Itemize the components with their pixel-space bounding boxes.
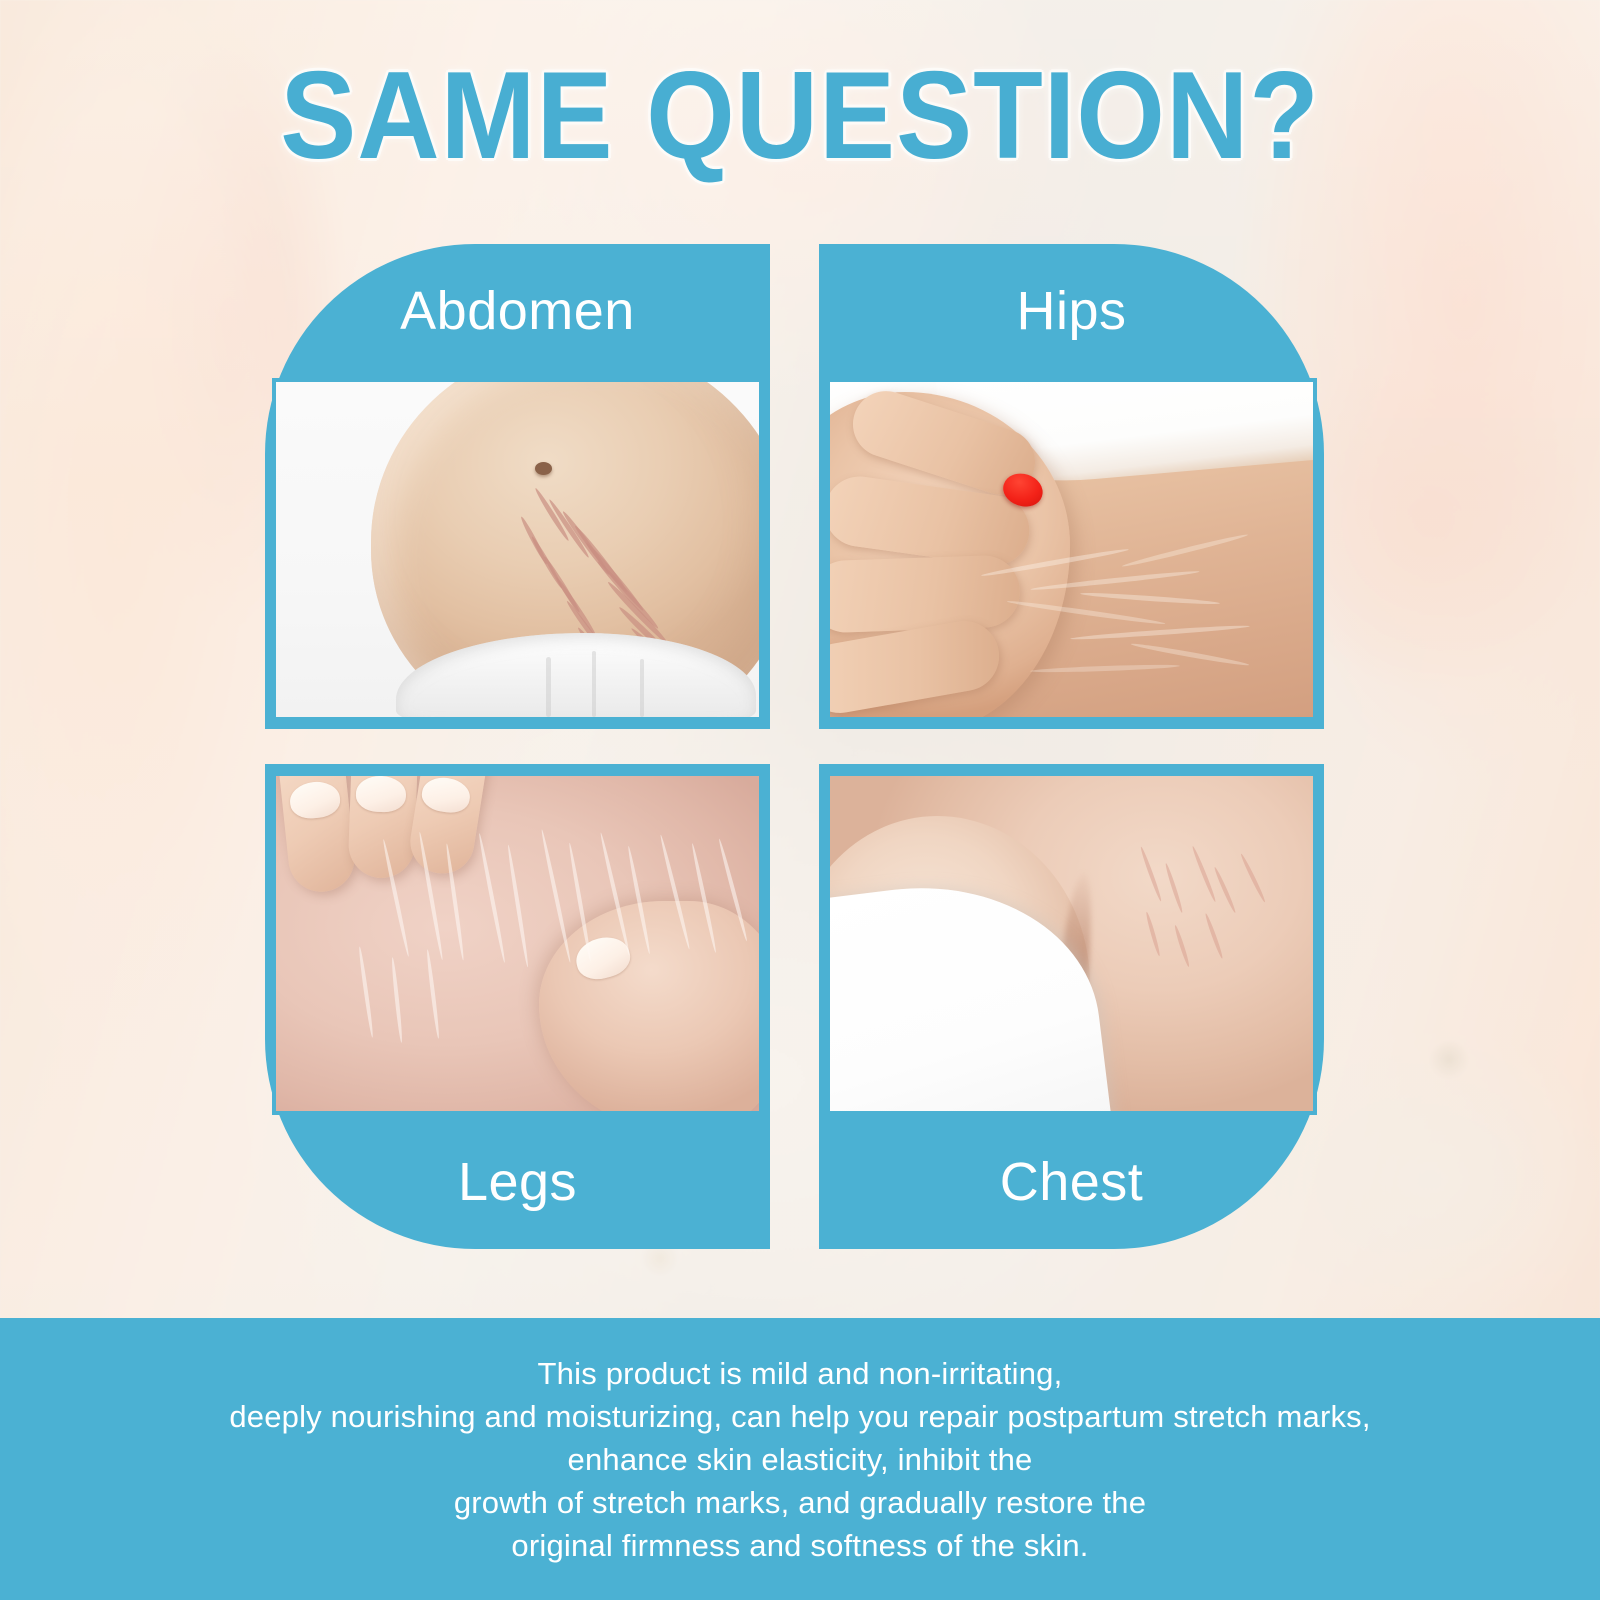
- panel-legs-label: Legs: [265, 1115, 770, 1249]
- footer-line-5: original firmness and softness of the sk…: [100, 1524, 1500, 1567]
- footer-bar: This product is mild and non-irritating,…: [0, 1318, 1600, 1600]
- panel-chest-label: Chest: [819, 1115, 1324, 1249]
- legs-photo: [276, 776, 759, 1111]
- panel-legs[interactable]: Legs: [265, 764, 770, 1249]
- panel-abdomen-label: Abdomen: [265, 244, 770, 378]
- hips-photo: [830, 382, 1313, 717]
- legs-hand-shape: [539, 901, 763, 1115]
- panel-hips[interactable]: Hips: [819, 244, 1324, 729]
- footer-line-3: enhance skin elasticity, inhibit the: [100, 1438, 1500, 1481]
- footer-line-4: growth of stretch marks, and gradually r…: [100, 1481, 1500, 1524]
- panel-legs-photo-frame: [272, 772, 763, 1115]
- title-container: SAME QUESTION?: [0, 54, 1600, 178]
- panel-abdomen-photo-frame: [272, 378, 763, 721]
- panel-chest-photo-frame: [826, 772, 1317, 1115]
- panel-chest[interactable]: Chest: [819, 764, 1324, 1249]
- panel-hips-photo-frame: [826, 378, 1317, 721]
- body-area-grid: Abdomen: [265, 244, 1331, 1254]
- abdomen-photo: [276, 382, 759, 717]
- footer-description: This product is mild and non-irritating,…: [100, 1352, 1500, 1567]
- chest-photo: [830, 776, 1313, 1111]
- panel-hips-label: Hips: [819, 244, 1324, 378]
- navel: [535, 462, 552, 475]
- page-title: SAME QUESTION?: [280, 54, 1320, 178]
- poster-root: SAME QUESTION? Abdomen: [0, 0, 1600, 1600]
- panel-abdomen[interactable]: Abdomen: [265, 244, 770, 729]
- footer-line-1: This product is mild and non-irritating,: [100, 1352, 1500, 1395]
- footer-line-2: deeply nourishing and moisturizing, can …: [100, 1395, 1500, 1438]
